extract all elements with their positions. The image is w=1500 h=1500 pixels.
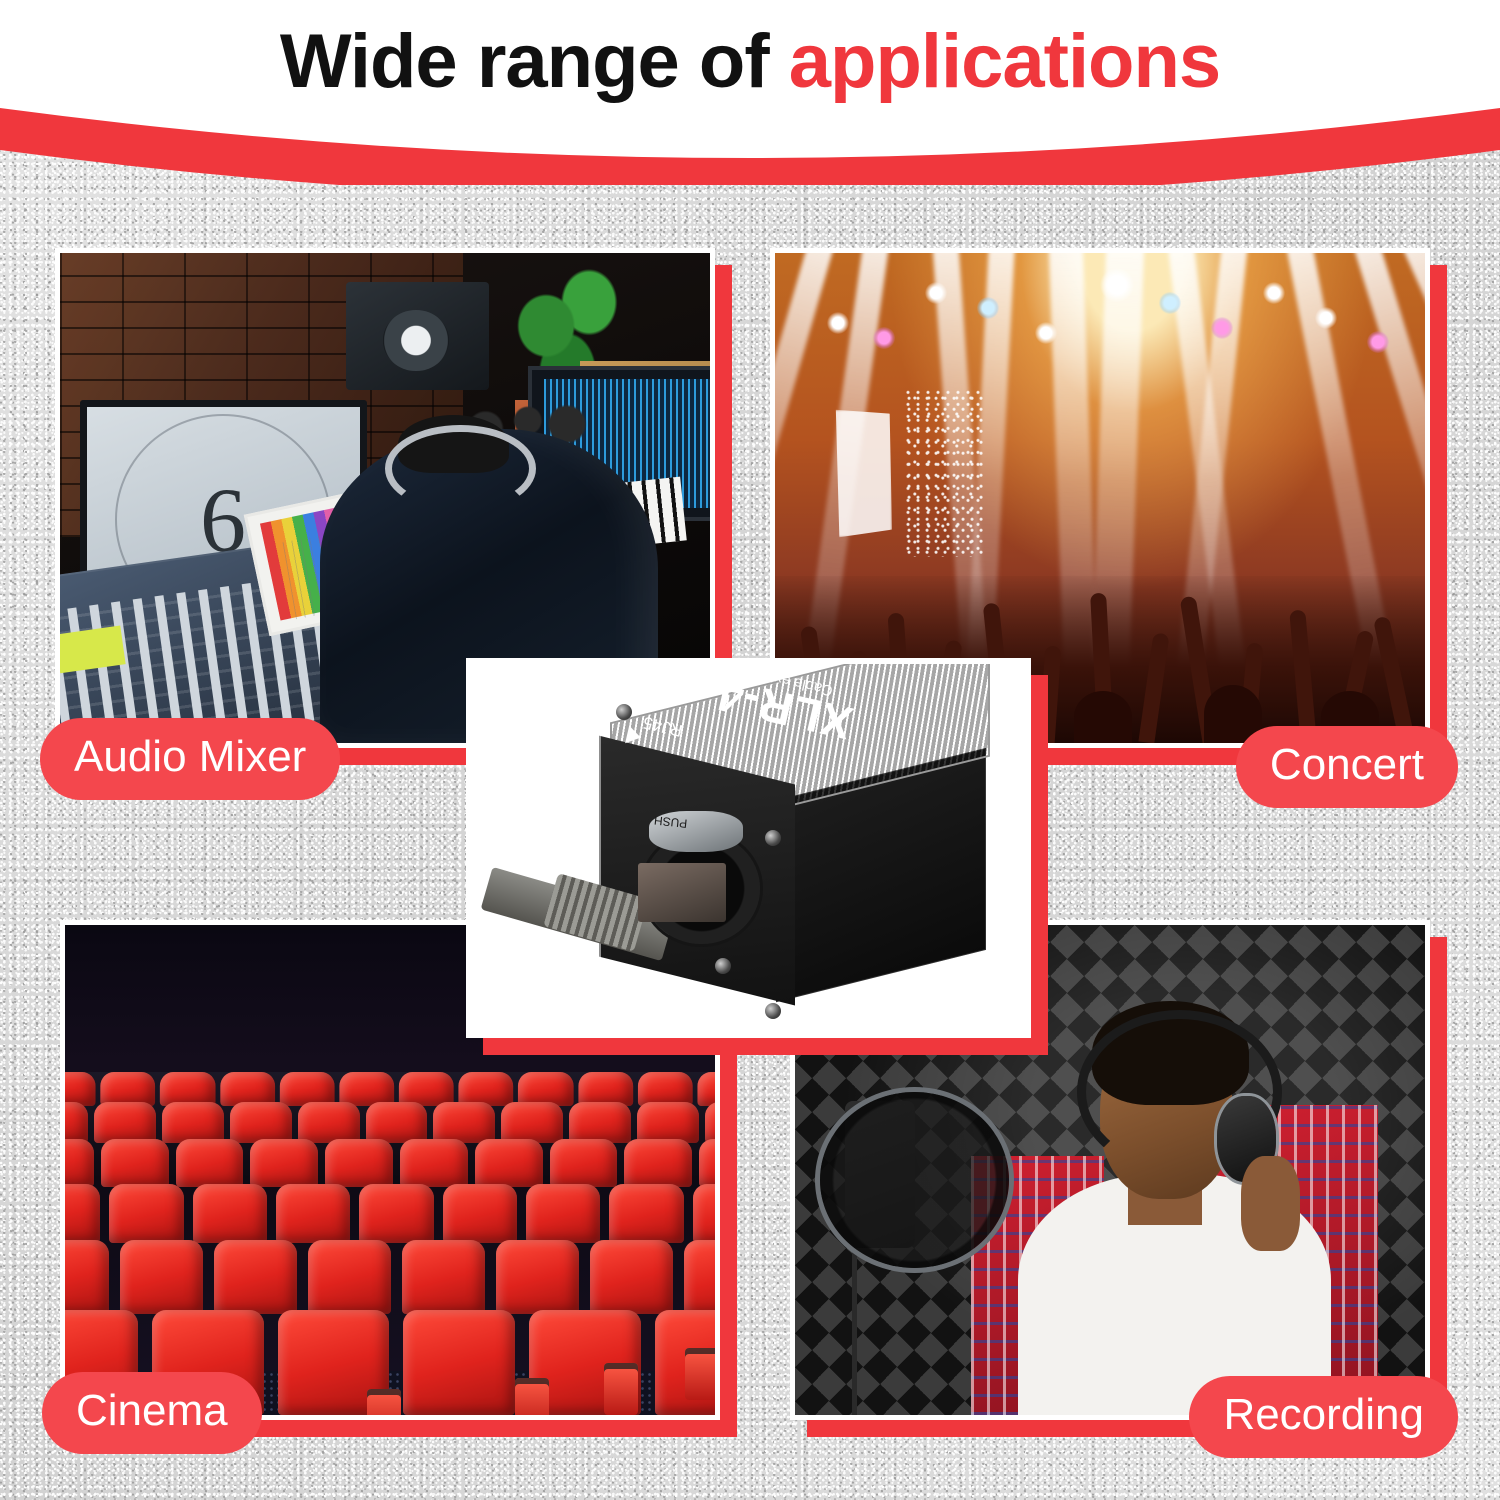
scene-product: XLR-4 Cable extender RJ45 PUSH [472, 664, 1025, 1032]
page-title-primary: Wide range of [280, 19, 789, 104]
pyro-sparkle [905, 390, 983, 557]
studio-monitor-speaker [346, 282, 489, 390]
page-title: Wide range of applications [0, 18, 1500, 105]
label-recording[interactable]: Recording [1189, 1376, 1458, 1458]
label-cinema[interactable]: Cinema [42, 1372, 262, 1454]
label-concert[interactable]: Concert [1236, 726, 1458, 808]
stage-screen-glow [834, 410, 893, 537]
singer-hand [1241, 1156, 1300, 1251]
rj45-plug [638, 863, 726, 922]
photo-product: XLR-4 Cable extender RJ45 PUSH [466, 658, 1031, 1038]
pop-filter [820, 1092, 1009, 1268]
cinema-seat-rows [65, 1072, 715, 1415]
headphones-icon [385, 425, 536, 513]
label-audio-mixer[interactable]: Audio Mixer [40, 718, 340, 800]
mic-stand [852, 1229, 857, 1415]
page-title-accent: applications [789, 19, 1220, 104]
panel-product[interactable]: XLR-4 Cable extender RJ45 PUSH [466, 658, 1031, 1038]
